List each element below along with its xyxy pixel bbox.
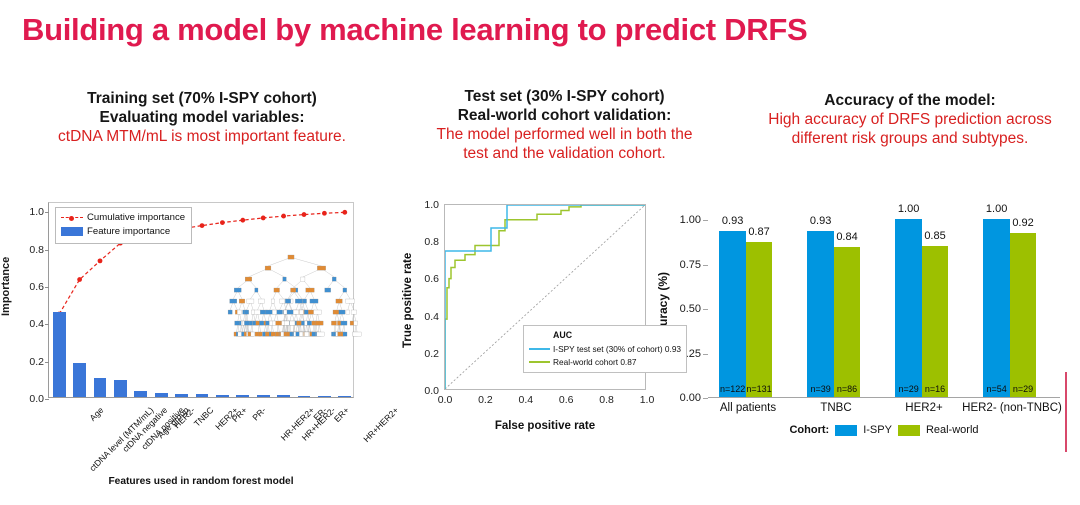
chart1-legend: Cumulative importance Feature importance bbox=[55, 207, 192, 244]
chart2-x-tick: 1.0 bbox=[640, 394, 655, 406]
green-swatch-icon bbox=[898, 425, 920, 436]
chart3-y-tick-mark bbox=[703, 354, 708, 355]
chart3-legend: Cohort: I-SPY Real-world bbox=[708, 424, 1060, 436]
chart1-bar bbox=[73, 363, 86, 397]
blue-line-icon bbox=[529, 348, 550, 350]
chart2-y-tick: 0.8 bbox=[424, 236, 439, 248]
chart3-bar-count: n=29 bbox=[895, 384, 921, 394]
chart2-legend-realworld: Real-world cohort 0.87 bbox=[529, 356, 681, 368]
chart1-legend-label-feature: Feature importance bbox=[87, 225, 170, 239]
chart1-bar bbox=[318, 396, 331, 397]
chart1-x-tick: HR+HER2+ bbox=[361, 405, 400, 444]
blue-swatch-icon bbox=[835, 425, 857, 436]
chart1-bar bbox=[94, 378, 107, 397]
chart1-y-tick: 0.2 bbox=[29, 356, 44, 368]
chart-accuracy-by-subtype: Accuracy (%) 0.000.250.500.751.000.93n=1… bbox=[660, 198, 1075, 448]
chart1-x-tick: TNBC bbox=[191, 405, 215, 429]
chart1-bar bbox=[216, 395, 229, 397]
caption-1-line-1: Training set (70% I-SPY cohort) bbox=[2, 90, 402, 109]
chart3-bar-count: n=29 bbox=[1010, 384, 1036, 394]
chart3-bar-value: 0.85 bbox=[922, 230, 948, 242]
chart3-bar: 0.85n=16 bbox=[922, 246, 948, 397]
caption-training-set: Training set (70% I-SPY cohort) Evaluati… bbox=[2, 90, 402, 147]
chart1-y-tick-mark bbox=[45, 250, 49, 251]
chart2-x-axis-label: False positive rate bbox=[444, 420, 646, 432]
chart1-bar bbox=[114, 380, 127, 397]
chart3-legend-title: Cohort: bbox=[789, 424, 829, 436]
chart1-y-tick-mark bbox=[45, 287, 49, 288]
chart2-legend-ispy: I-SPY test set (30% of cohort) 0.93 bbox=[529, 343, 681, 355]
chart3-category-label: TNBC bbox=[820, 402, 851, 414]
chart2-y-axis-label: True positive rate bbox=[402, 253, 414, 348]
chart1-x-tick: Age bbox=[87, 405, 105, 423]
chart2-y-tick: 0.6 bbox=[424, 273, 439, 285]
chart2-x-tick: 0.0 bbox=[438, 394, 453, 406]
chart2-plot-area: AUC I-SPY test set (30% of cohort) 0.93 … bbox=[444, 204, 646, 390]
chart1-y-tick-mark bbox=[45, 212, 49, 213]
chart3-plot-area: 0.000.250.500.751.000.93n=1220.87n=1310.… bbox=[708, 220, 1060, 398]
chart3-bar-count: n=131 bbox=[746, 384, 772, 394]
chart1-y-tick-mark bbox=[45, 399, 49, 400]
caption-2-line-4: test and the validation cohort. bbox=[392, 145, 737, 164]
chart3-bar: 0.93n=122 bbox=[719, 231, 745, 397]
accent-divider bbox=[1065, 372, 1067, 452]
chart3-bar-value: 0.87 bbox=[746, 226, 772, 238]
chart-roc-curves: True positive rate AUC I-SPY test set (3… bbox=[404, 198, 664, 448]
blue-swatch-icon bbox=[61, 227, 83, 236]
chart3-category-label: HER2- (non-TNBC) bbox=[962, 402, 1062, 414]
caption-test-set: Test set (30% I-SPY cohort) Real-world c… bbox=[392, 88, 737, 164]
chart1-bar bbox=[155, 393, 168, 397]
chart3-bar-count: n=122 bbox=[719, 384, 745, 394]
chart3-y-tick-mark bbox=[703, 309, 708, 310]
chart3-category-label: HER2+ bbox=[905, 402, 942, 414]
chart1-x-axis-label: Features used in random forest model bbox=[48, 476, 354, 487]
chart1-bar bbox=[134, 391, 147, 397]
chart3-bar-count: n=86 bbox=[834, 384, 860, 394]
chart2-y-tick: 0.4 bbox=[424, 311, 439, 323]
chart3-category-label: All patients bbox=[720, 402, 776, 414]
chart3-y-tick: 0.00 bbox=[680, 392, 701, 404]
chart2-y-tick: 0.2 bbox=[424, 348, 439, 360]
chart2-x-tick: 0.6 bbox=[559, 394, 574, 406]
chart2-x-tick: 0.8 bbox=[599, 394, 614, 406]
slide-canvas: Building a model by machine learning to … bbox=[0, 0, 1080, 505]
chart1-y-tick: 0.6 bbox=[29, 281, 44, 293]
chart2-legend: AUC I-SPY test set (30% of cohort) 0.93 … bbox=[523, 325, 687, 373]
caption-2-line-1: Test set (30% I-SPY cohort) bbox=[392, 88, 737, 107]
chart1-bar bbox=[53, 312, 66, 397]
chart1-bar bbox=[257, 395, 270, 397]
caption-3-line-1: Accuracy of the model: bbox=[740, 92, 1080, 111]
chart3-y-tick: 0.75 bbox=[680, 259, 701, 271]
chart3-y-tick: 1.00 bbox=[680, 214, 701, 226]
page-title: Building a model by machine learning to … bbox=[22, 12, 807, 48]
chart2-x-tick: 0.2 bbox=[478, 394, 493, 406]
chart3-legend-label-realworld: Real-world bbox=[926, 424, 979, 436]
chart3-bar-value: 0.93 bbox=[807, 215, 833, 227]
chart1-bar bbox=[236, 395, 249, 397]
chart2-legend-title: AUC bbox=[529, 329, 681, 342]
caption-3-line-2: High accuracy of DRFS prediction across bbox=[740, 111, 1080, 130]
chart3-bar-count: n=39 bbox=[807, 384, 833, 394]
chart3-bar: 0.87n=131 bbox=[746, 242, 772, 397]
caption-3-line-3: different risk groups and subtypes. bbox=[740, 130, 1080, 149]
chart1-y-tick: 0.0 bbox=[29, 393, 44, 405]
chart-feature-importance: Importance Cumulative importance Feature… bbox=[6, 198, 366, 498]
dashed-line-icon bbox=[61, 217, 83, 218]
chart1-bar bbox=[338, 396, 351, 397]
chart3-legend-label-ispy: I-SPY bbox=[863, 424, 892, 436]
green-line-icon bbox=[529, 361, 550, 363]
chart3-bar: 1.00n=54 bbox=[983, 219, 1009, 397]
chart3-bar: 0.92n=29 bbox=[1010, 233, 1036, 397]
chart1-y-tick: 0.4 bbox=[29, 318, 44, 330]
chart1-bar bbox=[298, 396, 311, 397]
chart1-y-tick: 0.8 bbox=[29, 244, 44, 256]
chart1-legend-cumulative: Cumulative importance bbox=[61, 211, 185, 225]
caption-1-line-2: Evaluating model variables: bbox=[2, 109, 402, 128]
chart1-bar bbox=[175, 394, 188, 397]
chart1-x-tick: ER+ bbox=[332, 405, 351, 424]
chart3-bar: 0.93n=39 bbox=[807, 231, 833, 397]
chart3-bar-value: 0.92 bbox=[1010, 217, 1036, 229]
chart1-plot-area: Cumulative importance Feature importance… bbox=[48, 202, 354, 398]
caption-1-line-3: ctDNA MTM/mL is most important feature. bbox=[2, 128, 402, 147]
chart1-legend-feature: Feature importance bbox=[61, 225, 185, 239]
chart3-y-tick-mark bbox=[703, 265, 708, 266]
caption-2-line-2: Real-world cohort validation: bbox=[392, 107, 737, 126]
chart1-y-tick-mark bbox=[45, 362, 49, 363]
chart3-bar-count: n=16 bbox=[922, 384, 948, 394]
chart3-bar: 0.84n=86 bbox=[834, 247, 860, 397]
chart1-bar bbox=[196, 394, 209, 397]
chart3-bar: 1.00n=29 bbox=[895, 219, 921, 397]
chart3-y-tick: 0.50 bbox=[680, 303, 701, 315]
chart1-x-tick: PR- bbox=[250, 405, 268, 423]
chart1-y-tick: 1.0 bbox=[29, 206, 44, 218]
chart1-bar bbox=[277, 395, 290, 397]
chart3-bar-value: 0.93 bbox=[719, 215, 745, 227]
chart1-legend-label-cumulative: Cumulative importance bbox=[87, 211, 185, 225]
chart3-bar-value: 0.84 bbox=[834, 231, 860, 243]
chart3-bar-value: 1.00 bbox=[983, 203, 1009, 215]
chart2-legend-label-realworld: Real-world cohort 0.87 bbox=[553, 356, 636, 368]
chart2-y-tick: 1.0 bbox=[424, 199, 439, 211]
chart3-y-tick-mark bbox=[703, 220, 708, 221]
chart3-bar-value: 1.00 bbox=[895, 203, 921, 215]
chart3-bar-count: n=54 bbox=[983, 384, 1009, 394]
chart3-y-tick-mark bbox=[703, 398, 708, 399]
chart2-legend-label-ispy: I-SPY test set (30% of cohort) 0.93 bbox=[553, 343, 681, 355]
caption-2-line-3: The model performed well in both the bbox=[392, 126, 737, 145]
chart2-x-tick: 0.4 bbox=[518, 394, 533, 406]
chart1-y-tick-mark bbox=[45, 324, 49, 325]
caption-accuracy: Accuracy of the model: High accuracy of … bbox=[740, 92, 1080, 149]
chart1-y-axis-label: Importance bbox=[0, 257, 12, 316]
